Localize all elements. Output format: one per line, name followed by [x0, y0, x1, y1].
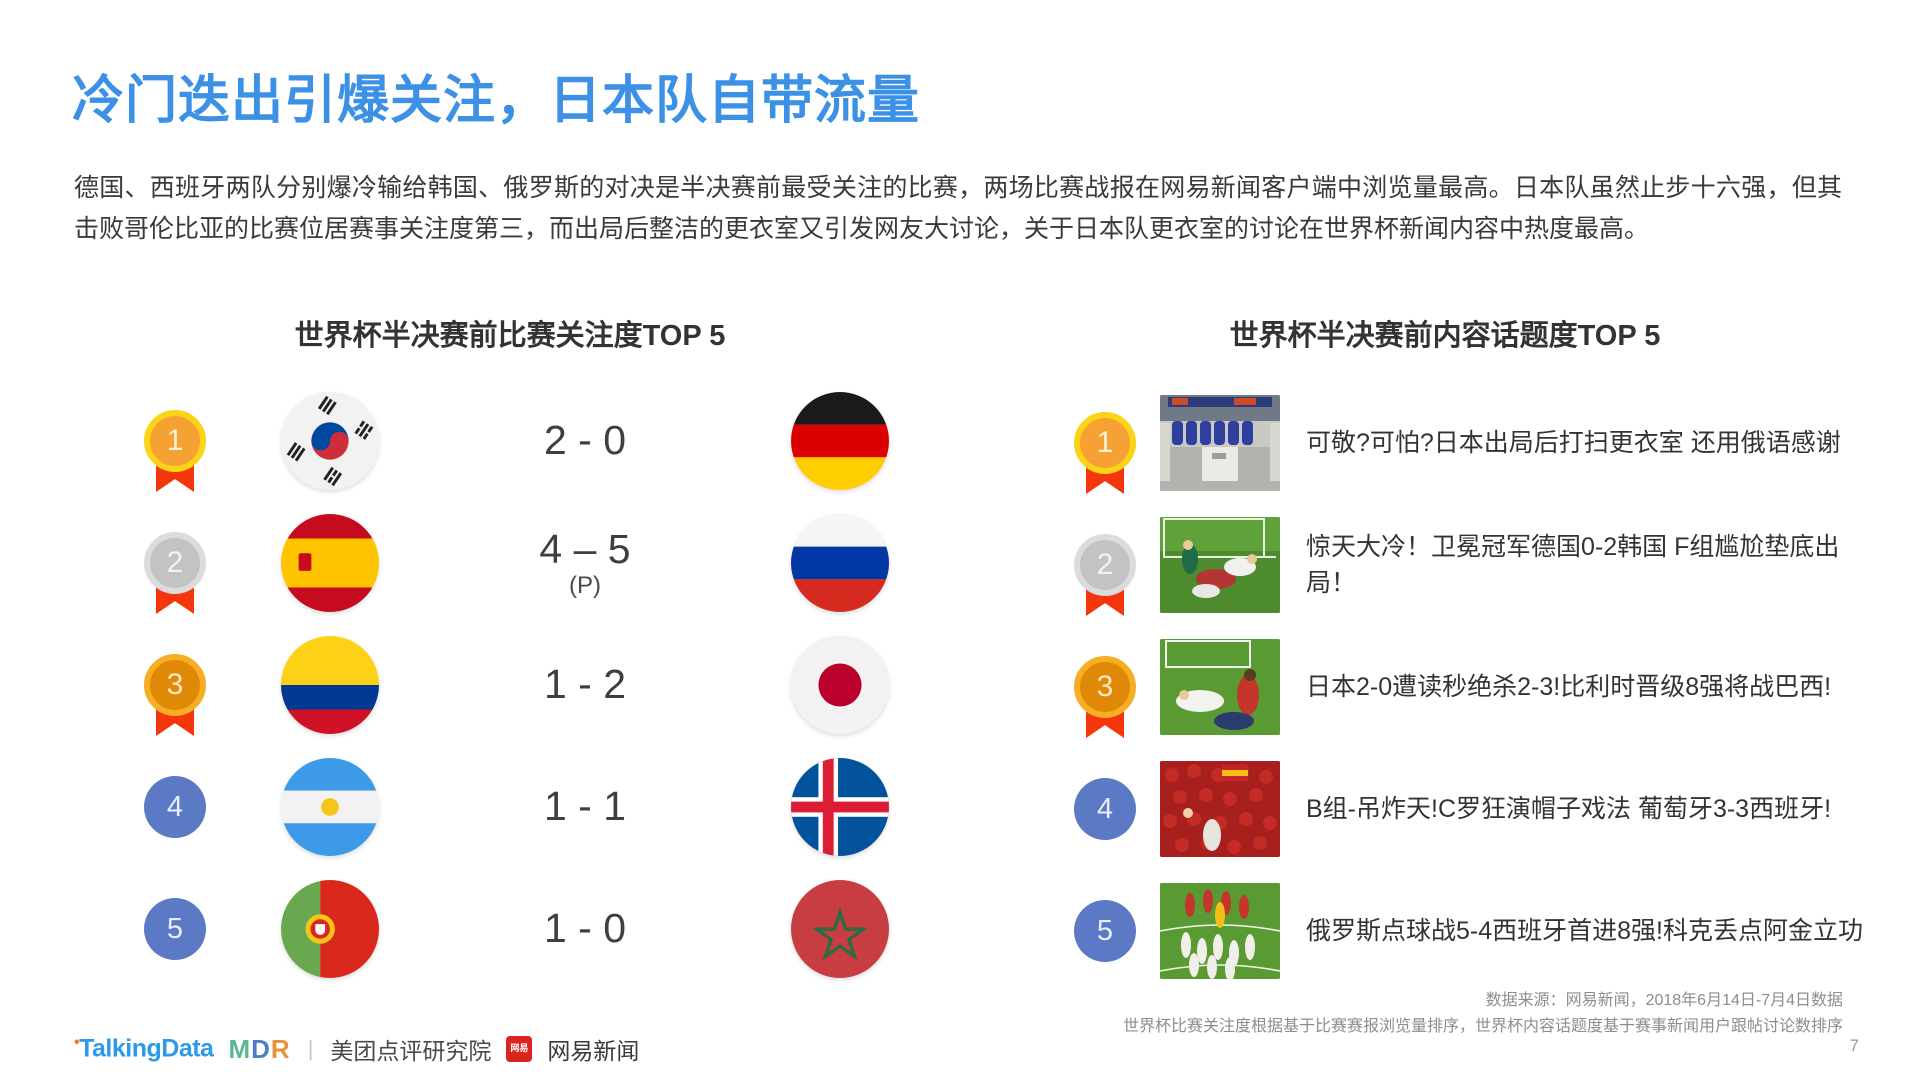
- score-cell: 1 - 2: [420, 663, 750, 706]
- rank-cell: 1: [110, 410, 240, 472]
- news-headline[interactable]: 可敬?可怕?日本出局后打扫更衣室 还用俄语感谢: [1280, 425, 1880, 461]
- slide: 冷门迭出引爆关注，日本队自带流量 德国、西班牙两队分别爆冷输给韩国、俄罗斯的对决…: [0, 0, 1921, 1080]
- source-note: 数据来源：网易新闻，2018年6月14日-7月4日数据 世界杯比赛关注度根据基于…: [1123, 988, 1843, 1041]
- rank-number: 2: [1074, 534, 1136, 596]
- match-row[interactable]: 2 4 – 5 (P): [110, 502, 930, 624]
- home-flag-cell: [240, 758, 420, 856]
- thumbnail-red-crowd[interactable]: [1160, 761, 1280, 857]
- medal-badge-plain: 4: [1074, 778, 1136, 840]
- left-panel-title: 世界杯半决赛前比赛关注度TOP 5: [110, 312, 910, 354]
- rank-number: 2: [144, 532, 206, 594]
- page-title: 冷门迭出引爆关注，日本队自带流量: [72, 58, 920, 133]
- away-flag-cell: [750, 758, 930, 856]
- rank-cell: 2: [1050, 534, 1160, 596]
- score-value: 1 - 1: [420, 785, 750, 828]
- news-headline[interactable]: 日本2-0遭读秒绝杀2-3!比利时晋级8强将战巴西!: [1280, 669, 1880, 705]
- flag-germany-icon: [791, 392, 889, 490]
- flag-portugal-icon: [281, 880, 379, 978]
- rank-cell: 3: [110, 654, 240, 716]
- news-row[interactable]: 2 惊天大冷！卫冕冠: [1050, 504, 1880, 626]
- home-flag-cell: [240, 636, 420, 734]
- score-value: 2 - 0: [420, 419, 750, 462]
- news-row[interactable]: 1: [1050, 382, 1880, 504]
- medal-badge-plain: 5: [1074, 900, 1136, 962]
- rank-number: 3: [1074, 656, 1136, 718]
- flag-japan-icon: [791, 636, 889, 734]
- rank-cell: 4: [1050, 778, 1160, 840]
- news-headline[interactable]: B组-吊炸天!C罗狂演帽子戏法 葡萄牙3-3西班牙!: [1280, 791, 1880, 827]
- source-line-2: 世界杯比赛关注度根据基于比赛赛报浏览量排序，世界杯内容话题度基于赛事新闻用户跟帖…: [1123, 1014, 1843, 1040]
- score-value: 1 - 2: [420, 663, 750, 706]
- away-flag-cell: [750, 880, 930, 978]
- match-row[interactable]: 1: [110, 380, 930, 502]
- rank-cell: 5: [1050, 900, 1160, 962]
- match-row[interactable]: 5 1 - 0: [110, 868, 930, 990]
- medal-badge-bronze: 3: [1074, 656, 1136, 718]
- rank-cell: 2: [110, 532, 240, 594]
- intro-paragraph: 德国、西班牙两队分别爆冷输给韩国、俄罗斯的对决是半决赛前最受关注的比赛，两场比赛…: [74, 168, 1842, 249]
- flag-spain-icon: [281, 514, 379, 612]
- score-cell: 1 - 0: [420, 907, 750, 950]
- medal-badge-silver: 2: [1074, 534, 1136, 596]
- right-panel-title: 世界杯半决赛前内容话题度TOP 5: [1050, 312, 1840, 354]
- logo-mdr: MDR: [228, 1034, 290, 1065]
- flag-russia-icon: [791, 514, 889, 612]
- logo-bar: •TalkingData MDR | 美团点评研究院 网易 网易新闻: [74, 1032, 639, 1066]
- rank-cell: 3: [1050, 656, 1160, 718]
- medal-badge-bronze: 3: [144, 654, 206, 716]
- medal-badge-silver: 2: [144, 532, 206, 594]
- match-list: 1: [110, 380, 930, 990]
- rank-number: 5: [1074, 900, 1136, 962]
- home-flag-cell: [240, 514, 420, 612]
- flag-south-korea-icon: [281, 392, 379, 490]
- news-row[interactable]: 5: [1050, 870, 1880, 992]
- flag-iceland-icon: [791, 758, 889, 856]
- rank-number: 3: [144, 654, 206, 716]
- rank-number: 1: [144, 410, 206, 472]
- news-row[interactable]: 3 日本2-0遭读秒绝杀2-3!比利时晋级8强将战巴西!: [1050, 626, 1880, 748]
- medal-badge-plain: 4: [144, 776, 206, 838]
- score-note: (P): [420, 573, 750, 598]
- match-row[interactable]: 3 1 - 2: [110, 624, 930, 746]
- score-cell: 2 - 0: [420, 419, 750, 462]
- flag-morocco-icon: [791, 880, 889, 978]
- logo-meituan: 美团点评研究院: [330, 1032, 491, 1066]
- rank-cell: 4: [110, 776, 240, 838]
- page-number: 7: [1850, 1036, 1859, 1056]
- home-flag-cell: [240, 392, 420, 490]
- rank-number: 1: [1074, 412, 1136, 474]
- rank-number: 4: [144, 776, 206, 838]
- medal-badge-gold: 1: [1074, 412, 1136, 474]
- rank-number: 4: [1074, 778, 1136, 840]
- score-value: 4 – 5: [420, 528, 750, 571]
- news-list: 1: [1050, 382, 1880, 992]
- thumbnail-goal-dive[interactable]: [1160, 517, 1280, 613]
- news-headline[interactable]: 惊天大冷！卫冕冠军德国0-2韩国 F组尴尬垫底出局！: [1280, 529, 1880, 602]
- score-cell: 1 - 1: [420, 785, 750, 828]
- rank-cell: 5: [110, 898, 240, 960]
- rank-number: 5: [144, 898, 206, 960]
- home-flag-cell: [240, 880, 420, 978]
- away-flag-cell: [750, 392, 930, 490]
- flag-colombia-icon: [281, 636, 379, 734]
- flag-argentina-icon: [281, 758, 379, 856]
- thumbnail-locker-room[interactable]: [1160, 395, 1280, 491]
- logo-netease: 网易新闻: [547, 1032, 639, 1066]
- match-row[interactable]: 4 1 - 1: [110, 746, 930, 868]
- news-row[interactable]: 4: [1050, 748, 1880, 870]
- news-headline[interactable]: 俄罗斯点球战5-4西班牙首进8强!科克丢点阿金立功: [1280, 913, 1880, 949]
- away-flag-cell: [750, 514, 930, 612]
- thumbnail-players-ground[interactable]: [1160, 639, 1280, 735]
- score-cell: 4 – 5 (P): [420, 528, 750, 598]
- logo-divider: |: [308, 1036, 314, 1062]
- thumbnail-team-celebrate[interactable]: [1160, 883, 1280, 979]
- away-flag-cell: [750, 636, 930, 734]
- medal-badge-gold: 1: [144, 410, 206, 472]
- netease-badge-icon: 网易: [506, 1036, 532, 1062]
- rank-cell: 1: [1050, 412, 1160, 474]
- medal-badge-plain: 5: [144, 898, 206, 960]
- logo-talkingdata: •TalkingData: [74, 1034, 213, 1063]
- score-value: 1 - 0: [420, 907, 750, 950]
- source-line-1: 数据来源：网易新闻，2018年6月14日-7月4日数据: [1123, 988, 1843, 1014]
